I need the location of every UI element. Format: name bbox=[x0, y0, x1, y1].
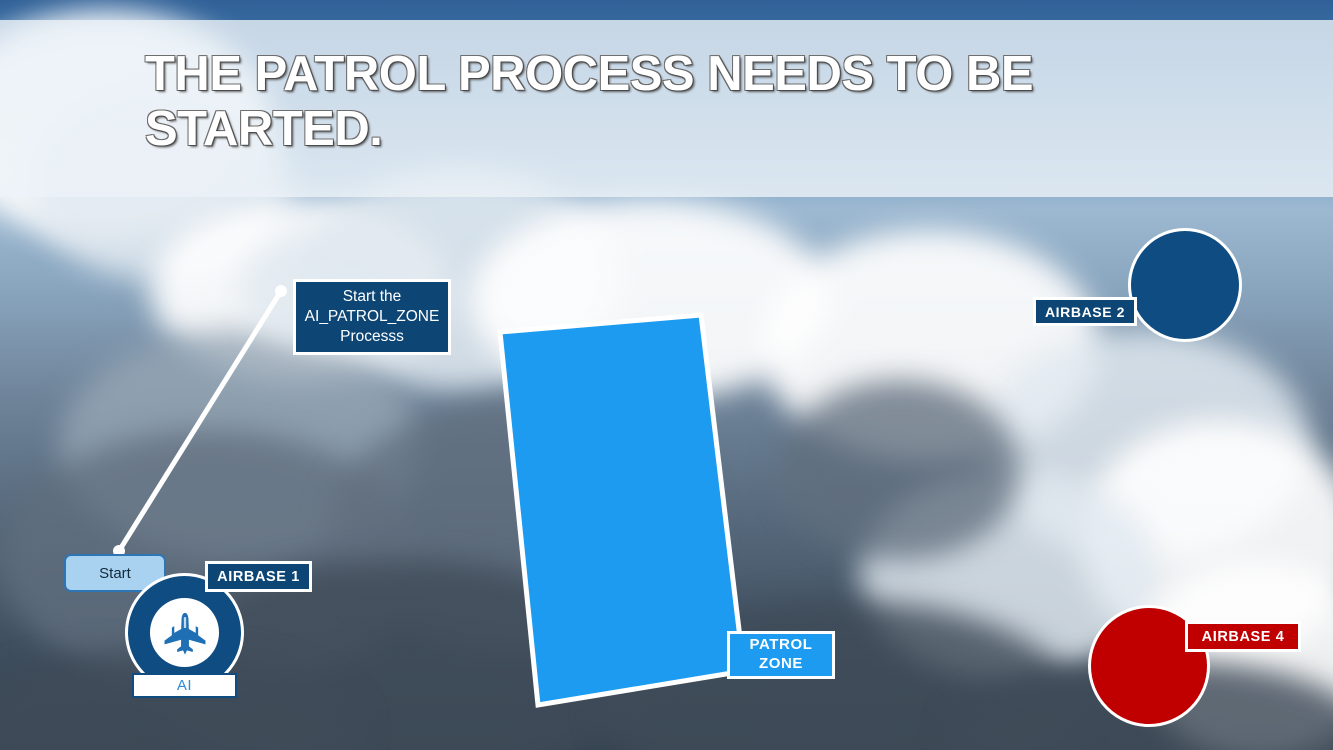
airbase-2-label[interactable]: AIRBASE 2 bbox=[1033, 297, 1137, 326]
page-title: THE PATROL PROCESS NEEDS TO BE STARTED. bbox=[145, 47, 1195, 157]
airbase-2-circle[interactable] bbox=[1128, 228, 1242, 342]
presentation-slide: THE PATROL PROCESS NEEDS TO BE STARTED. … bbox=[0, 0, 1333, 750]
fighter-jet-icon bbox=[162, 610, 208, 656]
patrol-zone-label[interactable]: PATROL ZONE bbox=[727, 631, 835, 679]
aircraft-icon-badge bbox=[150, 598, 219, 667]
process-callout-box[interactable]: Start the AI_PATROL_ZONE Processs bbox=[293, 279, 451, 355]
ai-label[interactable]: AI bbox=[132, 673, 237, 698]
airbase-1-label[interactable]: AIRBASE 1 bbox=[205, 561, 312, 592]
airbase-4-label[interactable]: AIRBASE 4 bbox=[1185, 621, 1301, 652]
